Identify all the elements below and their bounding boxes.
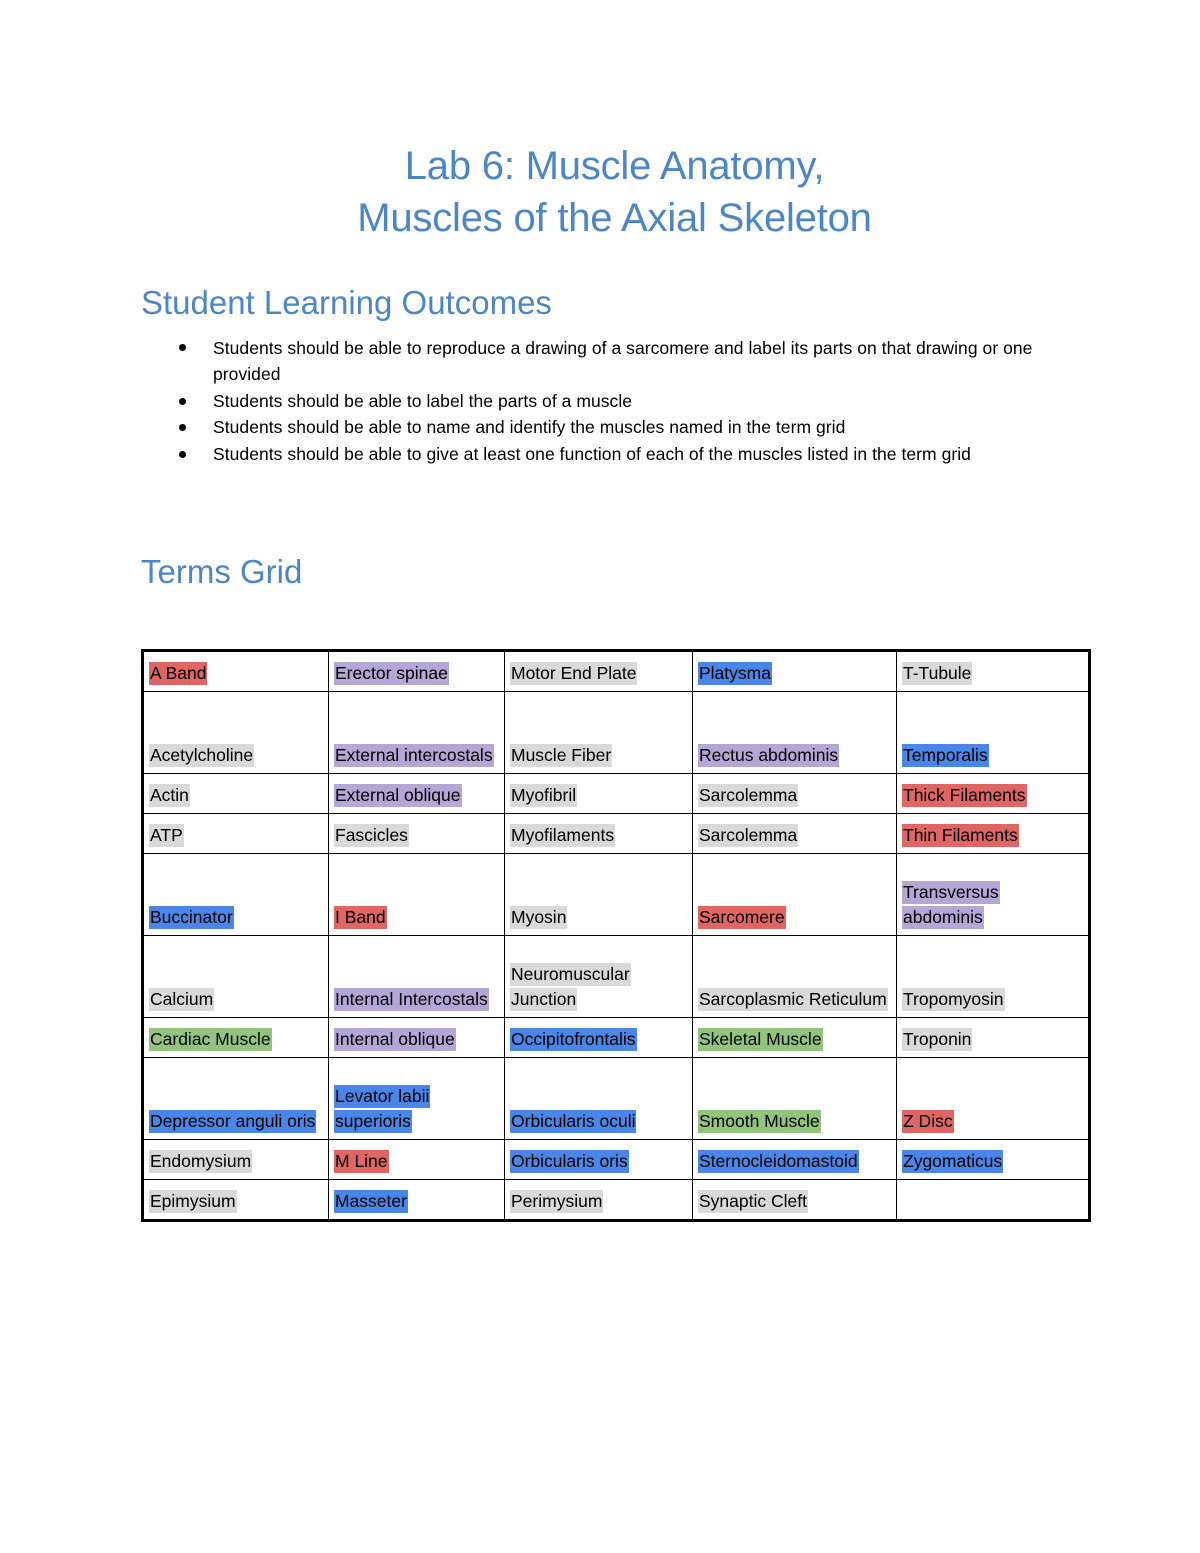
list-item-label: Students should be able to label the par… [213,391,632,411]
table-cell: Z Disc [897,1058,1090,1140]
table-row: EpimysiumMasseterPerimysiumSynaptic Clef… [143,1180,1090,1221]
table-cell: Orbicularis oculi [505,1058,693,1140]
term-label: Orbicularis oculi [510,1110,636,1133]
term-label: Thick Filaments [902,784,1027,807]
table-cell: Transversus abdominis [897,854,1090,936]
table-cell: Buccinator [143,854,329,936]
table-row: A BandErector spinaeMotor End PlatePlaty… [143,651,1090,692]
term-label: I Band [334,906,387,929]
table-cell: Internal Intercostals [329,936,505,1018]
term-label: Epimysium [149,1190,237,1213]
term-label: Buccinator [149,906,234,929]
table-row: ATPFasciclesMyofilamentsSarcolemmaThin F… [143,814,1090,854]
table-cell: Erector spinae [329,651,505,692]
term-label: Fascicles [334,824,409,847]
table-cell: Sarcoplasmic Reticulum [693,936,897,1018]
term-label: Sarcoplasmic Reticulum [698,988,888,1011]
term-label: Acetylcholine [149,744,254,767]
term-label: A Band [149,662,207,685]
table-cell: Platysma [693,651,897,692]
document-body: Lab 6: Muscle Anatomy, Muscles of the Ax… [141,0,1088,1222]
table-cell: Orbicularis oris [505,1140,693,1180]
table-row: EndomysiumM LineOrbicularis orisSternocl… [143,1140,1090,1180]
table-cell: I Band [329,854,505,936]
term-label: Myofilaments [510,824,615,847]
term-label: Sarcolemma [698,824,798,847]
table-cell: Skeletal Muscle [693,1018,897,1058]
term-label: ATP [149,824,184,847]
term-label: Sarcomere [698,906,786,929]
term-label: Skeletal Muscle [698,1028,823,1051]
table-cell: Endomysium [143,1140,329,1180]
table-cell: Calcium [143,936,329,1018]
table-row: ActinExternal obliqueMyofibrilSarcolemma… [143,774,1090,814]
table-row: AcetylcholineExternal intercostalsMuscle… [143,692,1090,774]
table-cell: Muscle Fiber [505,692,693,774]
term-label: Cardiac Muscle [149,1028,272,1051]
term-label: Internal Intercostals [334,988,489,1011]
bullet-icon [179,398,186,405]
table-cell: Myosin [505,854,693,936]
table-cell: Smooth Muscle [693,1058,897,1140]
term-label: Synaptic Cleft [698,1190,808,1213]
term-label: Occipitofrontalis [510,1028,637,1051]
table-cell: Perimysium [505,1180,693,1221]
table-cell: Sarcomere [693,854,897,936]
bullet-icon [179,451,186,458]
table-cell: Epimysium [143,1180,329,1221]
term-label: T-Tubule [902,662,972,685]
page-title-line-2: Muscles of the Axial Skeleton [141,192,1088,244]
term-label: Actin [149,784,190,807]
term-label: External intercostals [334,744,494,767]
table-cell: Masseter [329,1180,505,1221]
list-item: Students should be able to reproduce a d… [141,335,1088,388]
table-row: CalciumInternal IntercostalsNeuromuscula… [143,936,1090,1018]
table-cell: Occipitofrontalis [505,1018,693,1058]
table-cell: External oblique [329,774,505,814]
table-cell: Sternocleidomastoid [693,1140,897,1180]
term-label: Transversus abdominis [902,881,1000,929]
term-label: External oblique [334,784,462,807]
table-cell: Acetylcholine [143,692,329,774]
table-row: BuccinatorI BandMyosinSarcomereTransvers… [143,854,1090,936]
table-cell: Thick Filaments [897,774,1090,814]
table-cell: Internal oblique [329,1018,505,1058]
table-cell: Depressor anguli oris [143,1058,329,1140]
table-cell: A Band [143,651,329,692]
term-label: Sarcolemma [698,784,798,807]
table-cell: Tropomyosin [897,936,1090,1018]
term-label: Troponin [902,1028,972,1051]
term-label: Smooth Muscle [698,1110,821,1133]
list-item-label: Students should be able to give at least… [213,444,971,464]
table-cell: Sarcolemma [693,814,897,854]
table-cell: Cardiac Muscle [143,1018,329,1058]
term-label: Motor End Plate [510,662,637,685]
document-page: Lab 6: Muscle Anatomy, Muscles of the Ax… [0,0,1200,1553]
list-item: Students should be able to give at least… [141,441,1088,468]
table-cell: Levator labii superioris [329,1058,505,1140]
term-label: Rectus abdominis [698,744,839,767]
student-learning-outcomes-heading: Student Learning Outcomes [141,283,1088,323]
bullet-icon [179,344,186,351]
term-label: Erector spinae [334,662,449,685]
term-label: Endomysium [149,1150,252,1173]
table-cell: Temporalis [897,692,1090,774]
list-item: Students should be able to label the par… [141,388,1088,415]
term-label: Z Disc [902,1110,954,1133]
table-cell: Motor End Plate [505,651,693,692]
term-label: Levator labii superioris [334,1085,430,1133]
table-cell: External intercostals [329,692,505,774]
table-cell: T-Tubule [897,651,1090,692]
table-cell: Myofilaments [505,814,693,854]
page-title: Lab 6: Muscle Anatomy, Muscles of the Ax… [141,0,1088,244]
term-label: Zygomaticus [902,1150,1003,1173]
term-label: Myofibril [510,784,577,807]
table-cell: Rectus abdominis [693,692,897,774]
table-cell: Sarcolemma [693,774,897,814]
table-cell: Zygomaticus [897,1140,1090,1180]
term-label: Myosin [510,906,567,929]
term-label: Perimysium [510,1190,603,1213]
table-cell: M Line [329,1140,505,1180]
terms-grid-table: A BandErector spinaeMotor End PlatePlaty… [141,649,1091,1222]
term-label: Muscle Fiber [510,744,612,767]
term-label: Platysma [698,662,772,685]
terms-grid-heading: Terms Grid [141,552,1088,592]
table-cell: Thin Filaments [897,814,1090,854]
table-cell: Neuromuscular Junction [505,936,693,1018]
term-label: M Line [334,1150,389,1173]
table-row: Cardiac MuscleInternal obliqueOccipitofr… [143,1018,1090,1058]
table-cell: Fascicles [329,814,505,854]
term-label: Calcium [149,988,214,1011]
list-item-label: Students should be able to reproduce a d… [213,338,1032,385]
table-cell: Myofibril [505,774,693,814]
table-cell: Actin [143,774,329,814]
term-label: Sternocleidomastoid [698,1150,859,1173]
table-cell [897,1180,1090,1221]
term-label: Orbicularis oris [510,1150,629,1173]
bullet-icon [179,424,186,431]
term-label: Tropomyosin [902,988,1005,1011]
table-cell: ATP [143,814,329,854]
list-item: Students should be able to name and iden… [141,414,1088,441]
table-row: Depressor anguli orisLevator labii super… [143,1058,1090,1140]
table-cell: Synaptic Cleft [693,1180,897,1221]
list-item-label: Students should be able to name and iden… [213,417,845,437]
term-label: Internal oblique [334,1028,456,1051]
term-label: Temporalis [902,744,989,767]
term-label: Masseter [334,1190,408,1213]
term-label: Depressor anguli oris [149,1110,316,1133]
learning-outcomes-list: Students should be able to reproduce a d… [141,335,1088,468]
term-label: Neuromuscular Junction [510,963,631,1011]
term-label: Thin Filaments [902,824,1019,847]
page-title-line-1: Lab 6: Muscle Anatomy, [141,140,1088,192]
table-cell: Troponin [897,1018,1090,1058]
